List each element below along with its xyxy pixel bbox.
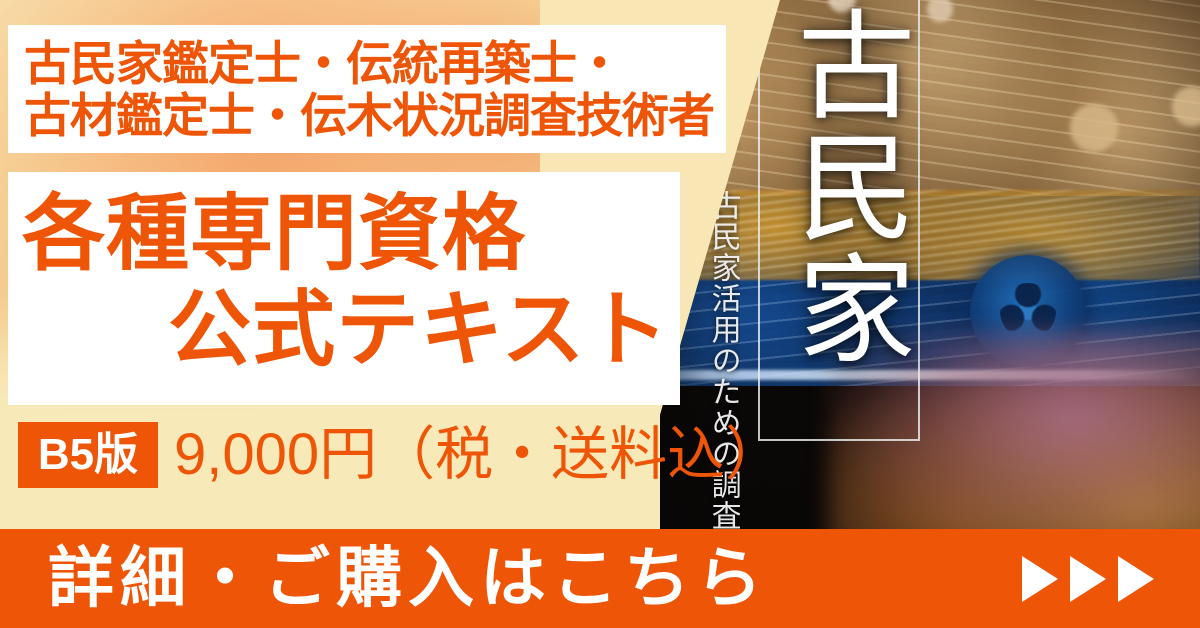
chevron-right-icon <box>1118 556 1154 602</box>
cta-arrow-group <box>1022 556 1154 602</box>
price-text: 9,000円（税・送料込） <box>174 425 783 486</box>
cta-label: 詳細・ご購入はこちら <box>48 544 768 610</box>
book-title: 古民家 <box>762 4 914 434</box>
chevron-right-icon <box>1070 556 1106 602</box>
format-badge: B5版 <box>18 422 158 488</box>
headline-line-2: 公式テキスト <box>168 288 670 371</box>
format-badge-label: B5版 <box>38 433 138 477</box>
certification-line-1: 古民家鑑定士・伝統再築士・ <box>24 40 724 87</box>
promo-banner: 伝統構法 古民家活用のための調査と再生の 古民家 古民家鑑定士・伝統再築士・ 古… <box>0 0 1200 628</box>
certification-line-2: 古材鑑定士・伝木状況調査技術者 <box>24 92 724 139</box>
cta-bar[interactable]: 詳細・ご購入はこちら <box>0 529 1200 628</box>
chevron-right-icon <box>1022 556 1058 602</box>
headline-line-1: 各種専門資格 <box>22 192 526 275</box>
